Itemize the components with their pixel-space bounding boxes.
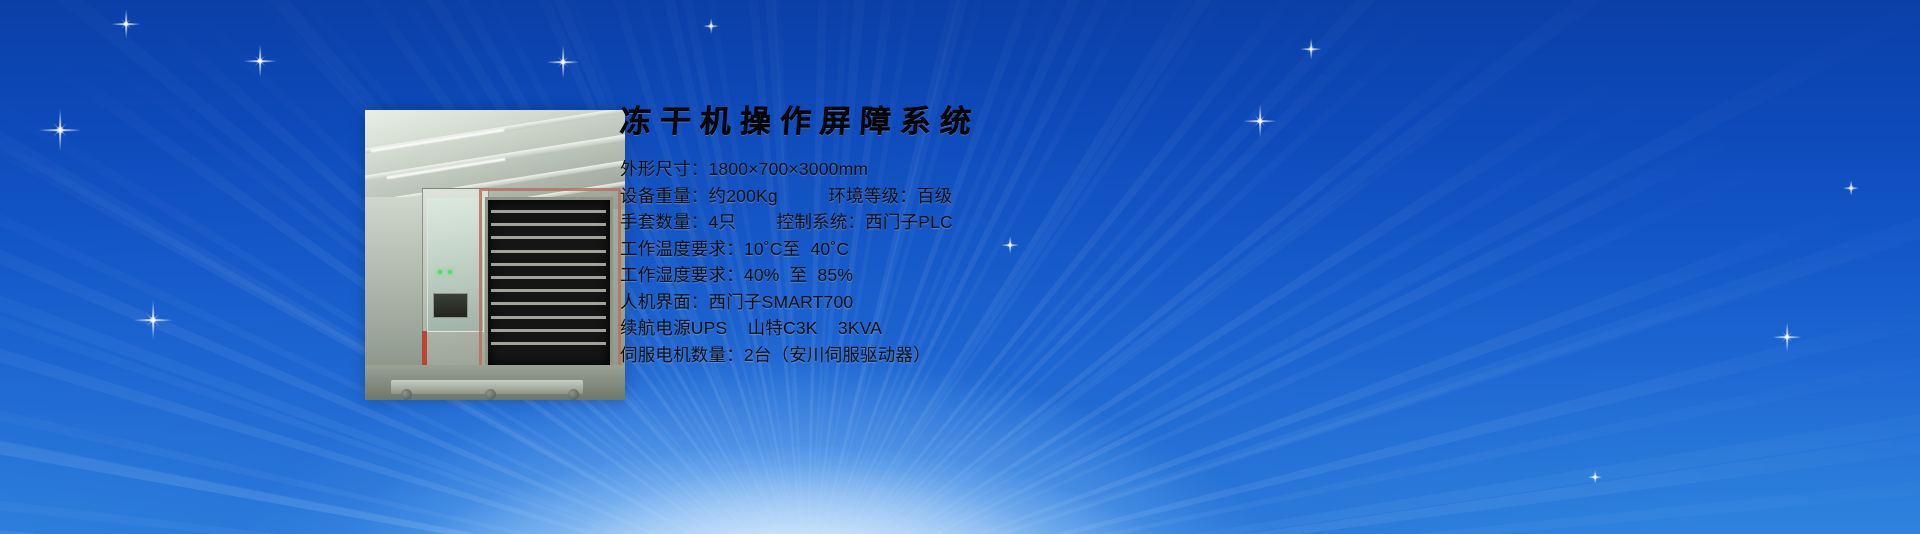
- sparkle-star-icon: [1588, 470, 1602, 484]
- sparkle-star-icon: [1772, 322, 1802, 352]
- photo-shelf: [491, 223, 606, 226]
- sparkle-star-icon: [111, 9, 141, 39]
- banner-title: 冻干机操作屏障系统: [618, 100, 1381, 144]
- photo-indicator-lamp: [448, 270, 452, 274]
- sparkle-star-icon: [1300, 38, 1322, 60]
- photo-red-stripe: [422, 331, 427, 365]
- photo-shelf: [491, 276, 606, 279]
- banner-text-block: 冻干机操作屏障系统 外形尺寸：1800×700×3000mm设备重量：约200K…: [620, 100, 1380, 368]
- photo-shelf: [491, 210, 606, 213]
- spec-row: 续航电源UPS 山特C3K 3KVA: [620, 315, 1380, 342]
- spec-row: 人机界面：西门子SMART700: [620, 289, 1380, 316]
- sparkle-star-icon: [243, 44, 277, 78]
- photo-shelf: [491, 263, 606, 266]
- photo-shelf: [491, 329, 606, 332]
- photo-operator-panel: [433, 293, 469, 318]
- photo-shelf: [491, 236, 606, 239]
- spec-row: 外形尺寸：1800×700×3000mm: [620, 156, 1380, 183]
- photo-shelf: [491, 250, 606, 253]
- photo-shelf: [491, 289, 606, 292]
- spec-row: 手套数量：4只 控制系统：西门子PLC: [620, 209, 1380, 236]
- sparkle-star-icon: [703, 18, 719, 34]
- photo-drying-chamber: [485, 197, 613, 368]
- photo-shelf: [491, 316, 606, 319]
- spec-row: 设备重量：约200Kg 环境等级：百级: [620, 183, 1380, 210]
- photo-indicator-lamp: [438, 270, 442, 274]
- photo-shelf: [491, 342, 606, 345]
- spec-row: 伺服电机数量：2台（安川伺服驱动器）: [620, 342, 1380, 369]
- specification-list: 外形尺寸：1800×700×3000mm设备重量：约200Kg 环境等级：百级手…: [620, 156, 1380, 368]
- spec-row: 工作温度要求：10˚C至 40˚C: [620, 236, 1380, 263]
- spec-row: 工作湿度要求：40% 至 85%: [620, 262, 1380, 289]
- photo-caster-wheel: [568, 389, 579, 400]
- photo-caster-wheel: [485, 389, 496, 400]
- sparkle-star-icon: [546, 45, 580, 79]
- sparkle-star-icon: [1843, 180, 1859, 196]
- product-banner: 冻干机操作屏障系统 外形尺寸：1800×700×3000mm设备重量：约200K…: [0, 0, 1920, 534]
- photo-shelf: [491, 302, 606, 305]
- product-photo: [365, 110, 625, 400]
- sparkle-star-icon: [133, 300, 173, 340]
- sparkle-star-icon: [38, 108, 82, 152]
